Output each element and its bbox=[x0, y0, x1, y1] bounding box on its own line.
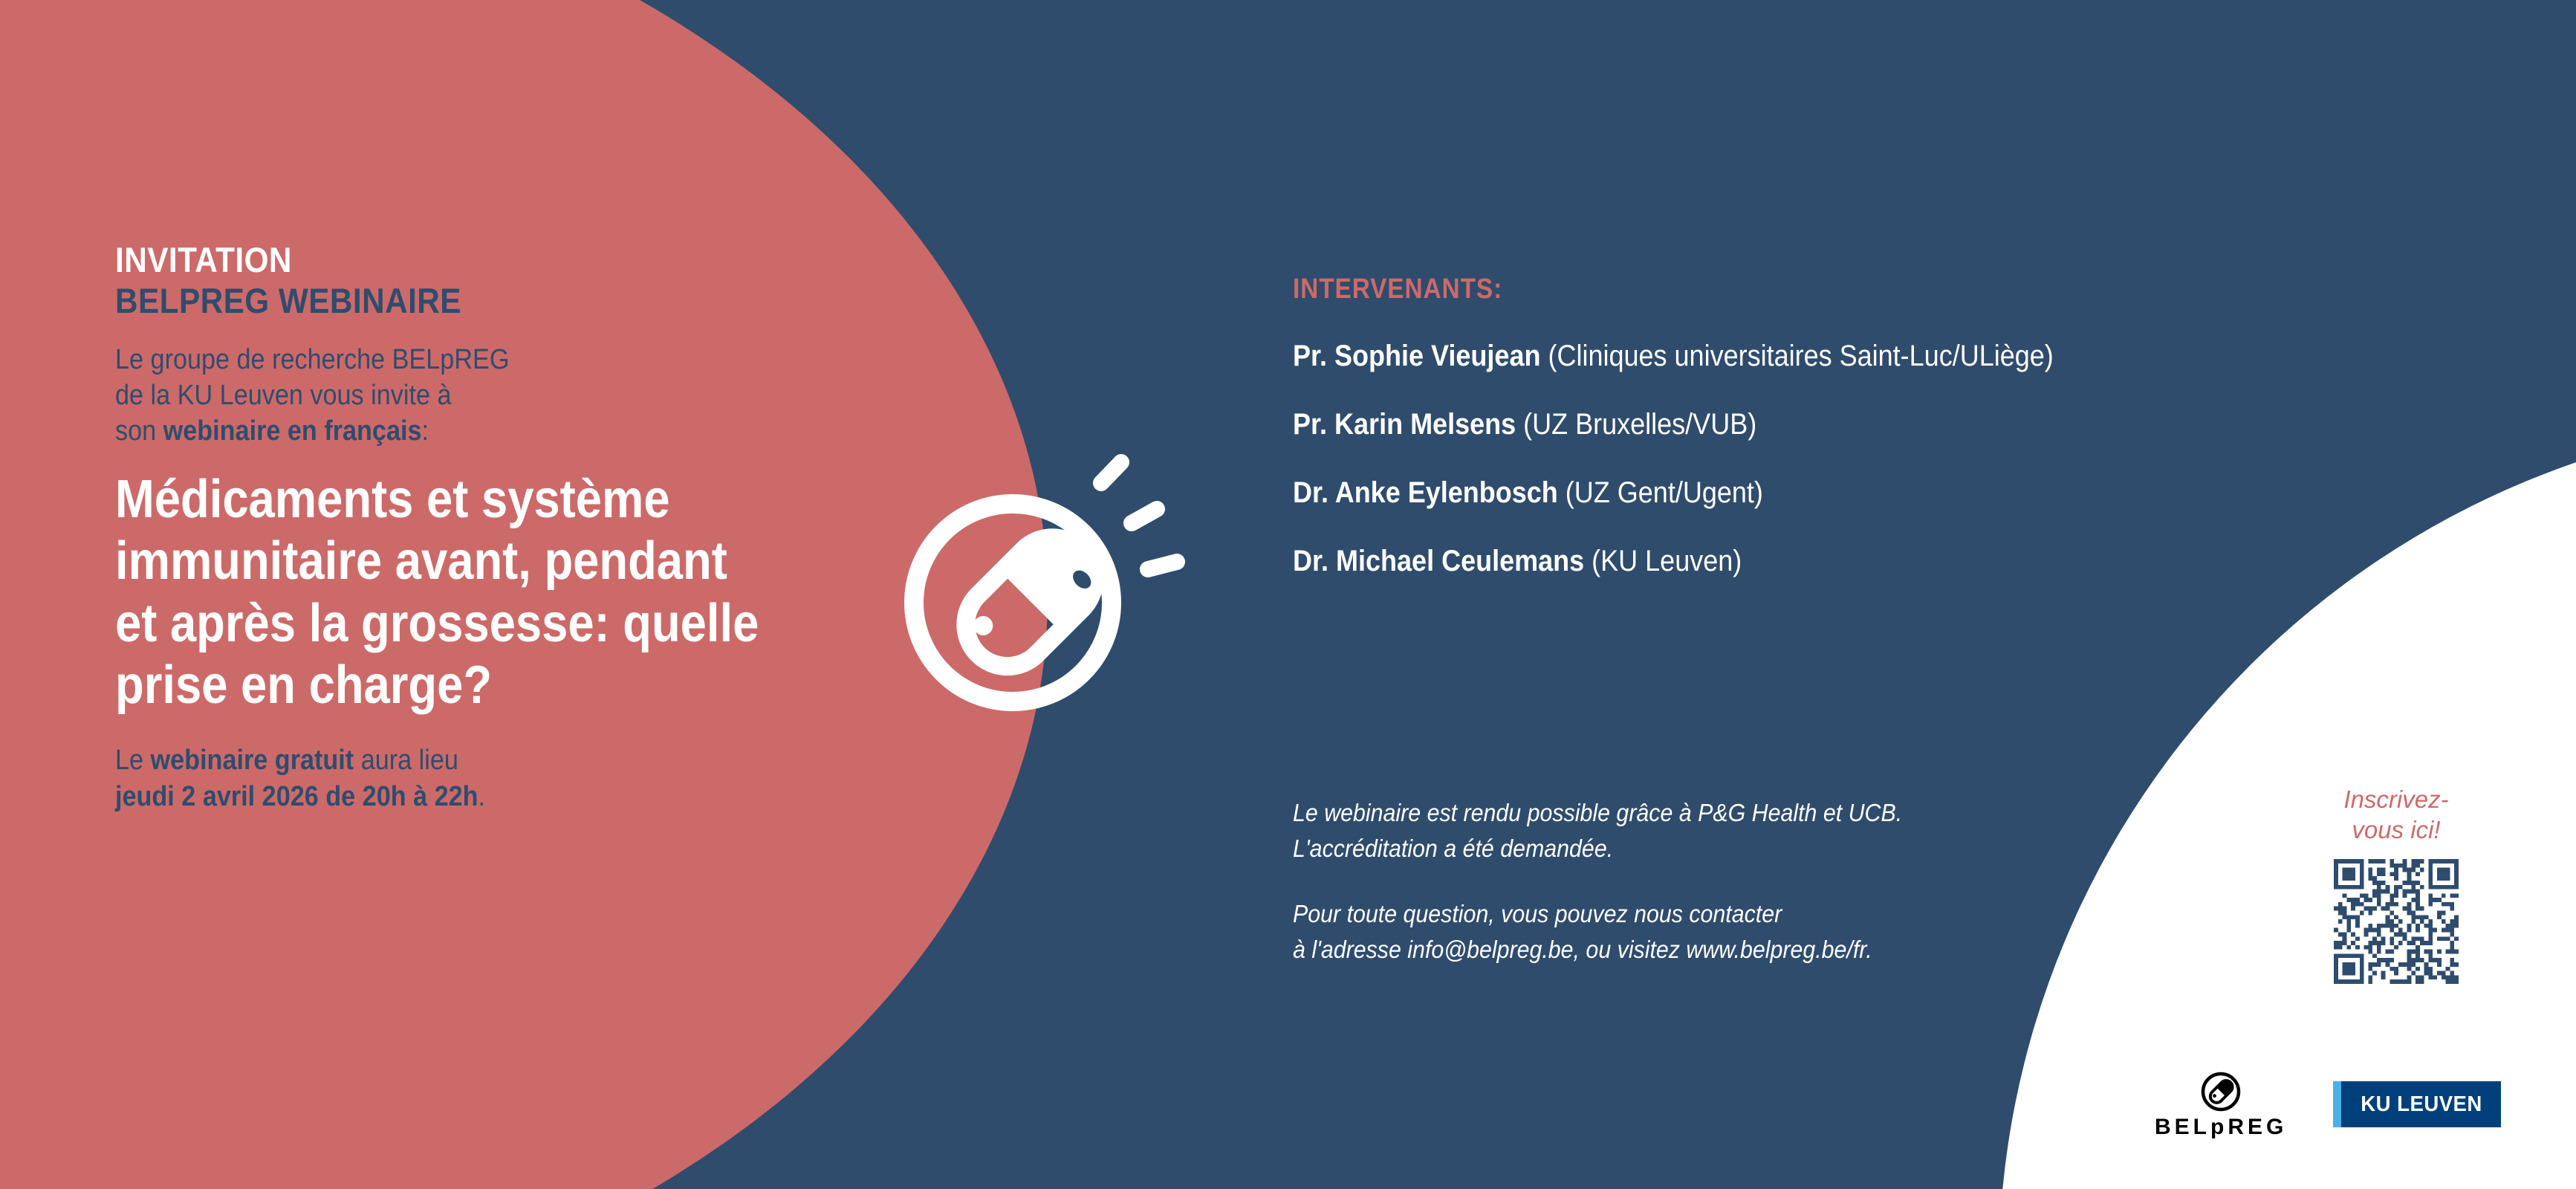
speaker-name-2: Pr. Karin Melsens bbox=[1293, 408, 1516, 441]
speaker-row-4: Dr. Michael Ceulemans (KU Leuven) bbox=[1293, 543, 2336, 579]
datetime-line-2: jeudi 2 avril 2026 de 20h à 22h. bbox=[115, 779, 797, 815]
register-label-line-1: Inscrivez- bbox=[2303, 784, 2489, 814]
intro-line-3-post: : bbox=[421, 415, 429, 447]
intro-line-3-bold: webinaire en français bbox=[163, 415, 422, 447]
kuleuven-wordmark: KU LEUVEN bbox=[2361, 1092, 2482, 1117]
speaker-affiliation-4: (KU Leuven) bbox=[1584, 545, 1742, 577]
belpreg-word-pre: BEL bbox=[2155, 1115, 2210, 1139]
kicker-line-invitation: INVITATION bbox=[115, 239, 797, 280]
kuleuven-logo: KU LEUVEN bbox=[2333, 1081, 2501, 1127]
datetime-bold-date: jeudi 2 avril 2026 de 20h à 22h bbox=[115, 781, 478, 812]
intro-line-1: Le groupe de recherche BELpREG bbox=[115, 343, 797, 378]
registration-block[interactable]: Inscrivez- vous ici! bbox=[2303, 784, 2489, 984]
webinar-title: Médicaments et système immunitaire avant… bbox=[115, 469, 782, 717]
contact-note-line-1: Pour toute question, vous pouvez nous co… bbox=[1293, 896, 2181, 932]
speaker-row-1: Pr. Sophie Vieujean (Cliniques universit… bbox=[1293, 338, 2336, 374]
datetime-line-1: Le webinaire gratuit aura lieu bbox=[115, 742, 797, 779]
logo-row: BELpREG KU LEUVEN bbox=[2155, 1070, 2501, 1138]
qr-code-wrapper[interactable] bbox=[2303, 859, 2489, 984]
intro-paragraph: Le groupe de recherche BELpREG de la KU … bbox=[115, 343, 797, 450]
speaker-name-1: Pr. Sophie Vieujean bbox=[1293, 340, 1540, 372]
belpreg-wordmark: BELpREG bbox=[2155, 1116, 2287, 1138]
speaker-name-3: Dr. Anke Eylenbosch bbox=[1293, 476, 1558, 509]
speaker-name-4: Dr. Michael Ceulemans bbox=[1293, 545, 1584, 577]
intro-line-3: son webinaire en français: bbox=[115, 414, 797, 450]
contact-note: Pour toute question, vous pouvez nous co… bbox=[1293, 896, 2181, 968]
intro-line-2: de la KU Leuven vous invite à bbox=[115, 378, 797, 414]
speaker-affiliation-3: (UZ Gent/Ugent) bbox=[1558, 476, 1763, 509]
datetime-bold-free: webinaire gratuit bbox=[151, 745, 354, 776]
left-content-column: INVITATION BELPREG WEBINAIRE Le groupe d… bbox=[115, 239, 873, 815]
footer-notes: Le webinaire est rendu possible grâce à … bbox=[1293, 795, 2181, 967]
datetime-mid: aura lieu bbox=[354, 745, 458, 776]
belpreg-logo: BELpREG bbox=[2155, 1070, 2287, 1138]
registration-qr-code[interactable] bbox=[2334, 859, 2459, 984]
speaker-affiliation-2: (UZ Bruxelles/VUB) bbox=[1516, 408, 1756, 441]
intro-line-3-pre: son bbox=[115, 415, 163, 447]
invitation-kicker: INVITATION BELPREG WEBINAIRE bbox=[115, 239, 797, 322]
register-label-line-2: vous ici! bbox=[2303, 814, 2489, 845]
datetime-post: . bbox=[478, 781, 486, 812]
speakers-heading: INTERVENANTS: bbox=[1293, 273, 2313, 305]
belpreg-word-post: REG bbox=[2228, 1115, 2287, 1139]
datetime-pre: Le bbox=[115, 745, 151, 776]
webinar-datetime: Le webinaire gratuit aura lieu jeudi 2 a… bbox=[115, 742, 797, 816]
sponsor-note-line-2: L'accréditation a été demandée. bbox=[1293, 831, 2181, 866]
right-content-column: INTERVENANTS: Pr. Sophie Vieujean (Clini… bbox=[1293, 273, 2452, 579]
sponsor-note: Le webinaire est rendu possible grâce à … bbox=[1293, 795, 2181, 866]
speaker-affiliation-1: (Cliniques universitaires Saint-Luc/ULiè… bbox=[1540, 340, 2053, 372]
belpreg-pill-icon bbox=[2199, 1070, 2242, 1113]
speaker-row-3: Dr. Anke Eylenbosch (UZ Gent/Ugent) bbox=[1293, 475, 2336, 511]
kicker-line-belpreg-webinaire: BELPREG WEBINAIRE bbox=[115, 280, 797, 321]
sponsor-note-line-1: Le webinaire est rendu possible grâce à … bbox=[1293, 795, 2181, 831]
speaker-row-2: Pr. Karin Melsens (UZ Bruxelles/VUB) bbox=[1293, 406, 2336, 442]
register-label: Inscrivez- vous ici! bbox=[2303, 784, 2489, 846]
belpreg-word-mid: p bbox=[2210, 1115, 2228, 1139]
pill-capsule-icon bbox=[895, 452, 1193, 734]
contact-note-line-2: à l'adresse info@belpreg.be, ou visitez … bbox=[1293, 932, 2181, 968]
webinar-invitation-banner: INVITATION BELPREG WEBINAIRE Le groupe d… bbox=[0, 0, 2576, 1189]
